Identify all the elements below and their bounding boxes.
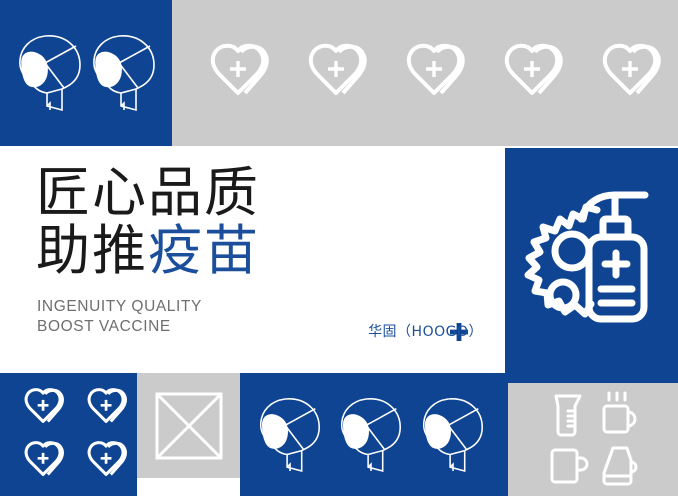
headline-line-2: 助推疫苗 [36,222,260,280]
headline-line-2-dark: 助推 [36,219,148,282]
beaker-icon [548,392,588,438]
headline-block: 匠心品质 助推疫苗 [36,164,260,280]
sanitizer-panel [505,148,678,370]
double-heart-plus-icon [284,43,370,103]
masked-face-icon [255,395,327,475]
broken-image-placeholder-icon [154,391,224,461]
containers-panel [508,383,678,496]
double-heart-plus-icon [71,440,129,482]
masked-face-icon [418,395,490,475]
headline-panel: 匠心品质 助推疫苗 INGENUITY QUALITY BOOST VACCIN… [0,146,505,355]
image-placeholder-panel [137,373,240,478]
double-heart-panel-top [172,0,678,146]
subtitle-line-2: BOOST VACCINE [37,317,202,337]
steaming-cup-icon [598,391,640,439]
masked-face-icon [336,395,408,475]
kettle-icon [597,443,641,489]
double-heart-plus-icon [480,43,566,103]
brand-name: 华固（HOOGO） [368,321,483,341]
subtitle-line-1: INGENUITY QUALITY [37,297,202,317]
hand-sanitizer-bottle-icon [581,195,645,319]
double-heart-plus-icon [8,387,66,429]
double-heart-plus-icon [382,43,468,103]
masked-face-icon [14,32,88,114]
double-heart-panel-bottom [0,373,137,496]
subtitle-block: INGENUITY QUALITY BOOST VACCINE [37,297,202,337]
double-heart-plus-icon [8,440,66,482]
poster-canvas: 匠心品质 助推疫苗 INGENUITY QUALITY BOOST VACCIN… [0,0,678,496]
double-heart-plus-icon [71,387,129,429]
double-heart-plus-icon [186,43,272,103]
double-heart-plus-icon [578,43,664,103]
masked-face-panel-bottom [240,373,505,496]
headline-line-2-accent: 疫苗 [148,219,260,282]
headline-line-1: 匠心品质 [36,164,260,222]
masked-face-panel-top [0,0,172,146]
masked-face-icon [88,32,162,114]
mug-icon [547,444,589,488]
